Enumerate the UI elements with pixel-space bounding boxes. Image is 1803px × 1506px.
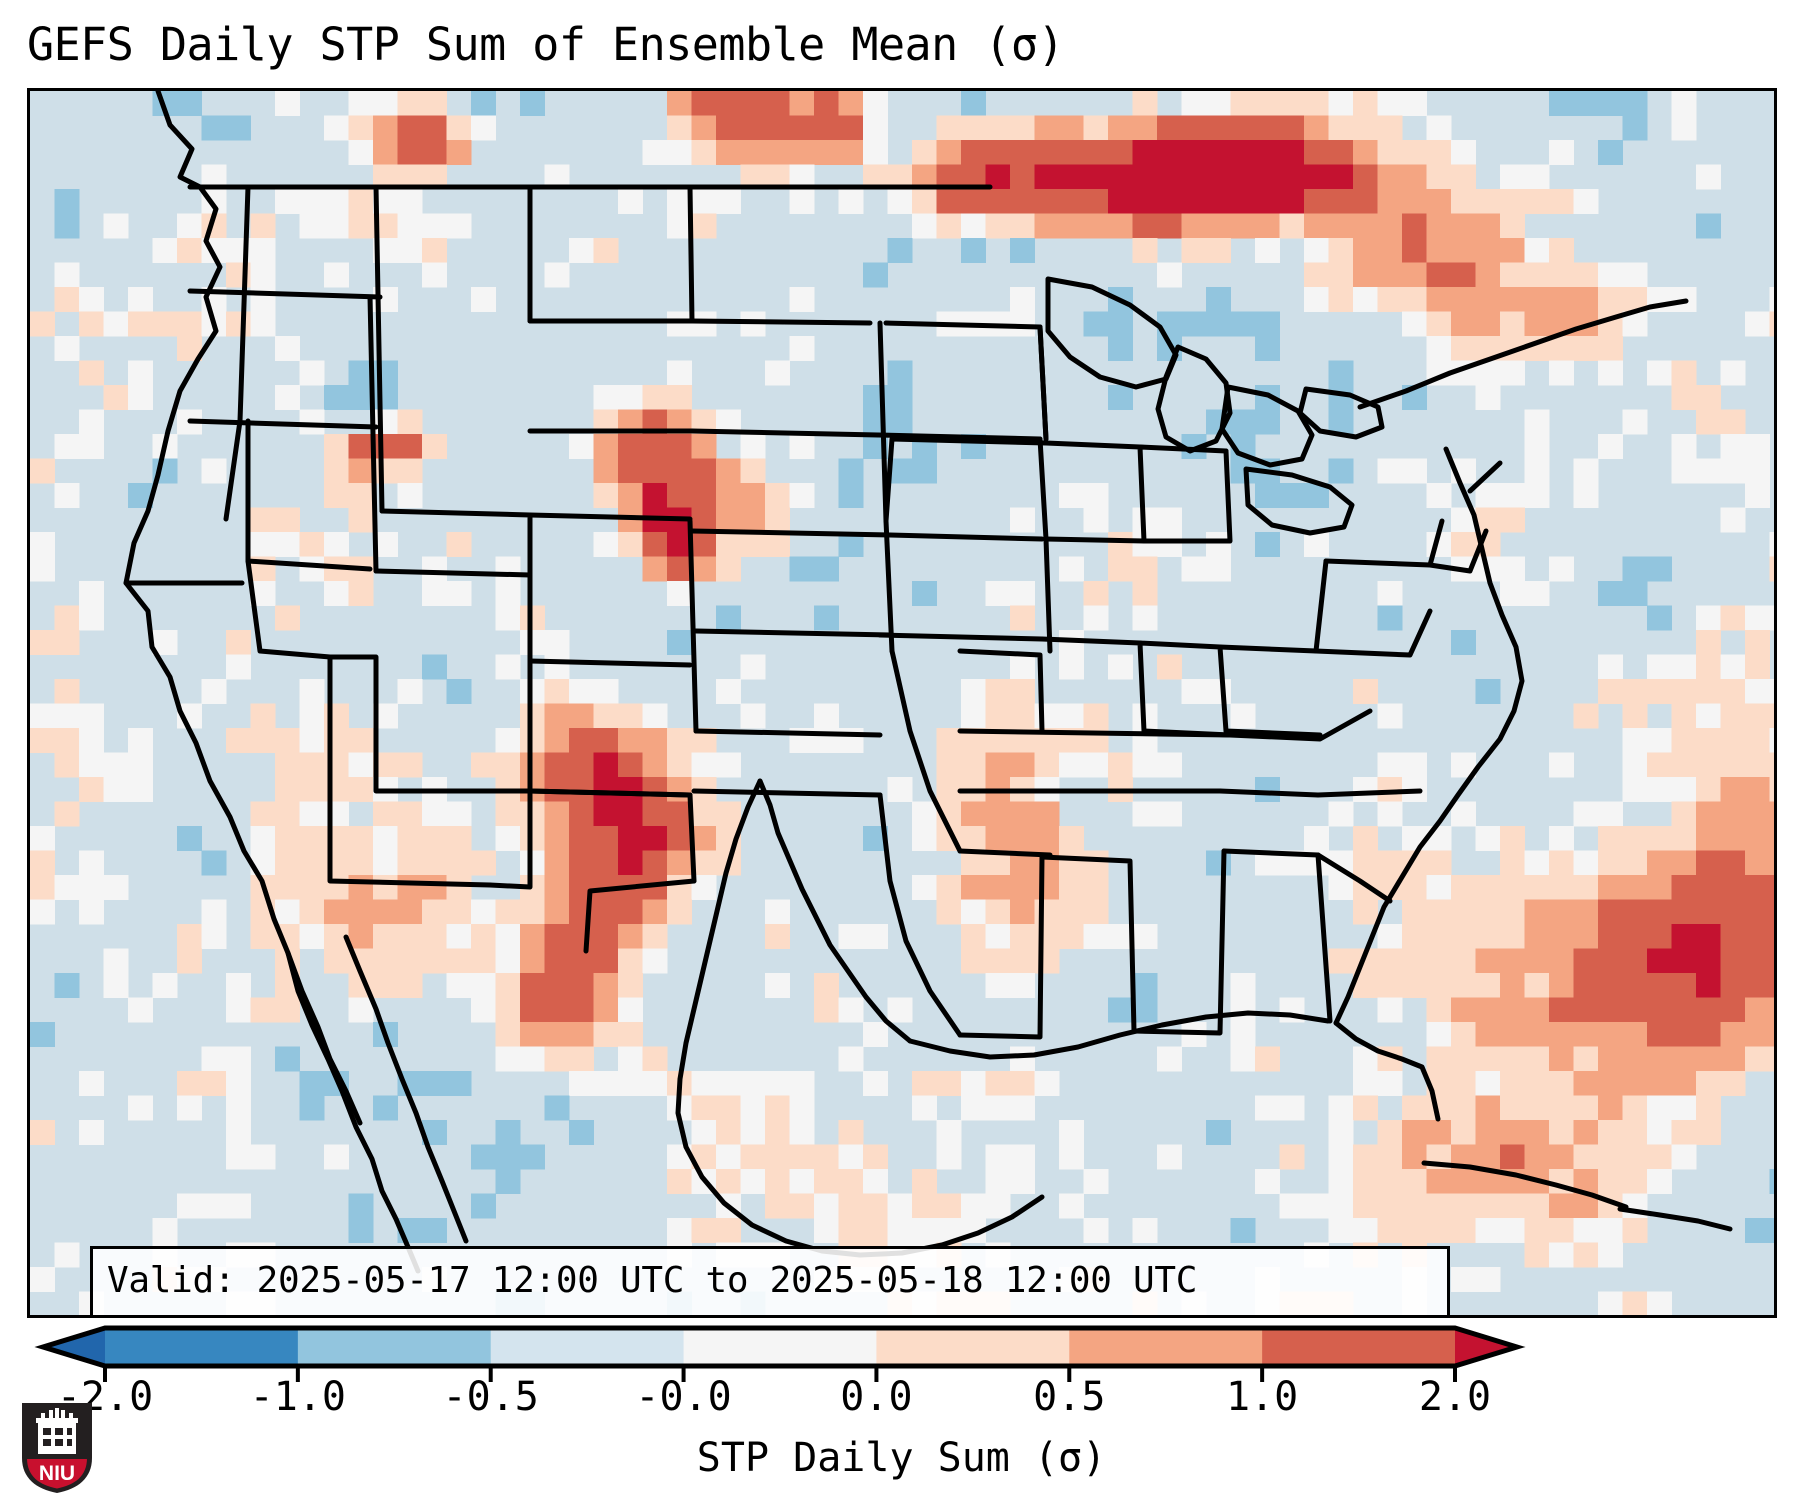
heatmap-cell bbox=[1353, 263, 1378, 288]
heatmap-cell bbox=[1598, 998, 1623, 1023]
heatmap-cell bbox=[1476, 1096, 1501, 1121]
heatmap-cell bbox=[594, 973, 619, 998]
heatmap-cell bbox=[1500, 851, 1525, 876]
heatmap-cell bbox=[1133, 140, 1158, 165]
heatmap-cell bbox=[300, 532, 325, 557]
heatmap-cell bbox=[398, 949, 423, 974]
heatmap-cell bbox=[471, 287, 496, 312]
heatmap-cell bbox=[1500, 1047, 1525, 1072]
heatmap-cell bbox=[1598, 336, 1623, 361]
heatmap-cell bbox=[373, 900, 398, 925]
heatmap-cell bbox=[765, 1145, 790, 1170]
heatmap-cell bbox=[1525, 434, 1550, 459]
heatmap-cell bbox=[1549, 851, 1574, 876]
heatmap-cell bbox=[1598, 1120, 1623, 1145]
heatmap-cell bbox=[1500, 557, 1525, 582]
heatmap-cell bbox=[1059, 483, 1084, 508]
heatmap-cell bbox=[1451, 165, 1476, 190]
heatmap-cell bbox=[1378, 140, 1403, 165]
info-valid-line: Valid: 2025-05-17 12:00 UTC to 2025-05-1… bbox=[107, 1255, 1435, 1307]
heatmap-cell bbox=[1696, 753, 1721, 778]
heatmap-cell bbox=[1770, 924, 1775, 949]
heatmap-cell bbox=[226, 1096, 251, 1121]
heatmap-cell bbox=[716, 802, 741, 827]
heatmap-cell bbox=[30, 532, 55, 557]
heatmap-cell bbox=[1623, 875, 1648, 900]
heatmap-cell bbox=[1427, 483, 1452, 508]
heatmap-cell bbox=[1329, 91, 1354, 116]
heatmap-cell bbox=[814, 606, 839, 631]
heatmap-cell bbox=[1696, 1022, 1721, 1047]
heatmap-cell bbox=[618, 385, 643, 410]
heatmap-cell bbox=[643, 851, 668, 876]
heatmap-cell bbox=[765, 1071, 790, 1096]
heatmap-cell bbox=[1353, 826, 1378, 851]
heatmap-cell bbox=[1353, 1169, 1378, 1194]
heatmap-cell bbox=[1500, 165, 1525, 190]
heatmap-cell bbox=[1696, 728, 1721, 753]
heatmap-cell bbox=[1427, 116, 1452, 141]
heatmap-cell bbox=[251, 312, 276, 337]
heatmap-cell bbox=[1574, 998, 1599, 1023]
heatmap-cell bbox=[1574, 1145, 1599, 1170]
heatmap-cell bbox=[79, 361, 104, 386]
heatmap-cell bbox=[1059, 1145, 1084, 1170]
heatmap-cell bbox=[937, 189, 962, 214]
heatmap-cell bbox=[1672, 802, 1697, 827]
heatmap-cell bbox=[128, 312, 153, 337]
heatmap-cell bbox=[373, 973, 398, 998]
heatmap-cell bbox=[961, 1071, 986, 1096]
heatmap-cell bbox=[667, 361, 692, 386]
heatmap-cell bbox=[324, 483, 349, 508]
heatmap-cell bbox=[1525, 1096, 1550, 1121]
colorbar-band-5 bbox=[1069, 1328, 1262, 1366]
heatmap-cell bbox=[496, 900, 521, 925]
heatmap-cell bbox=[1133, 165, 1158, 190]
heatmap-cell bbox=[373, 459, 398, 484]
heatmap-cell bbox=[1598, 1218, 1623, 1243]
heatmap-cell bbox=[1525, 1120, 1550, 1145]
heatmap-cell bbox=[1696, 777, 1721, 802]
heatmap-cell bbox=[1721, 924, 1746, 949]
heatmap-cell bbox=[1672, 679, 1697, 704]
heatmap-cell bbox=[1598, 434, 1623, 459]
heatmap-cell bbox=[839, 1120, 864, 1145]
colorbar-band-4 bbox=[876, 1328, 1069, 1366]
heatmap-cell bbox=[692, 214, 717, 239]
heatmap-cell bbox=[937, 1194, 962, 1219]
heatmap-cell bbox=[300, 1071, 325, 1096]
heatmap-cell bbox=[1378, 238, 1403, 263]
heatmap-cell bbox=[1770, 557, 1775, 582]
heatmap-cell bbox=[1745, 900, 1770, 925]
heatmap-cell bbox=[765, 483, 790, 508]
heatmap-cell bbox=[1598, 91, 1623, 116]
heatmap-cell bbox=[1525, 973, 1550, 998]
heatmap-cell bbox=[594, 1071, 619, 1096]
heatmap-cell bbox=[986, 1096, 1011, 1121]
heatmap-cell bbox=[1623, 1120, 1648, 1145]
heatmap-cell bbox=[643, 1047, 668, 1072]
heatmap-cell bbox=[1696, 998, 1721, 1023]
heatmap-cell bbox=[1035, 1071, 1060, 1096]
heatmap-cell bbox=[1549, 949, 1574, 974]
heatmap-cell bbox=[594, 753, 619, 778]
heatmap-cell bbox=[1525, 875, 1550, 900]
heatmap-cell bbox=[1672, 459, 1697, 484]
heatmap-cell bbox=[667, 483, 692, 508]
colorbar-tick-label-2: -0.5 bbox=[443, 1372, 539, 1422]
heatmap-cell bbox=[1672, 1022, 1697, 1047]
heatmap-cell bbox=[1084, 1169, 1109, 1194]
heatmap-cell bbox=[1623, 777, 1648, 802]
heatmap-cell bbox=[1721, 875, 1746, 900]
heatmap-cell bbox=[422, 91, 447, 116]
heatmap-cell bbox=[1329, 875, 1354, 900]
heatmap-cell bbox=[1280, 165, 1305, 190]
heatmap-cell bbox=[128, 361, 153, 386]
heatmap-cell bbox=[1770, 1218, 1775, 1243]
heatmap-cell bbox=[1035, 116, 1060, 141]
heatmap-cell bbox=[202, 900, 227, 925]
heatmap-cell bbox=[790, 1145, 815, 1170]
heatmap-cell bbox=[300, 679, 325, 704]
colorbar-tick-label-4: 0.0 bbox=[840, 1372, 912, 1422]
heatmap-cell bbox=[1598, 1096, 1623, 1121]
heatmap-cell bbox=[275, 532, 300, 557]
heatmap-cell bbox=[594, 459, 619, 484]
heatmap-cell bbox=[741, 116, 766, 141]
heatmap-cell bbox=[569, 973, 594, 998]
heatmap-cell bbox=[226, 1047, 251, 1072]
heatmap-cell bbox=[1745, 924, 1770, 949]
heatmap-cell bbox=[1280, 1194, 1305, 1219]
heatmap-cell bbox=[1157, 1145, 1182, 1170]
heatmap-cell bbox=[1745, 728, 1770, 753]
heatmap-cell bbox=[1378, 753, 1403, 778]
heatmap-cell bbox=[1304, 116, 1329, 141]
heatmap-cell bbox=[496, 1120, 521, 1145]
heatmap-cell bbox=[349, 900, 374, 925]
heatmap-cell bbox=[1402, 459, 1427, 484]
colorbar-tick-label-7: 2.0 bbox=[1419, 1372, 1491, 1422]
heatmap-cell bbox=[55, 214, 80, 239]
heatmap-cell bbox=[618, 1071, 643, 1096]
heatmap-cell bbox=[1206, 532, 1231, 557]
heatmap-cell bbox=[1623, 581, 1648, 606]
heatmap-cell bbox=[1623, 728, 1648, 753]
heatmap-cell bbox=[373, 116, 398, 141]
heatmap-cell bbox=[1770, 1047, 1775, 1072]
heatmap-cell bbox=[839, 483, 864, 508]
heatmap-cell bbox=[569, 1120, 594, 1145]
heatmap-cell bbox=[692, 189, 717, 214]
heatmap-cell bbox=[1280, 483, 1305, 508]
heatmap-cell bbox=[1059, 875, 1084, 900]
heatmap-cell bbox=[1157, 116, 1182, 141]
heatmap-cell bbox=[349, 851, 374, 876]
heatmap-cell bbox=[471, 924, 496, 949]
heatmap-cell bbox=[716, 557, 741, 582]
heatmap-cell bbox=[1500, 924, 1525, 949]
heatmap-cell bbox=[1231, 410, 1256, 435]
heatmap-cell bbox=[30, 1267, 55, 1292]
heatmap-cell bbox=[55, 606, 80, 631]
heatmap-cell bbox=[496, 606, 521, 631]
heatmap-cell bbox=[986, 116, 1011, 141]
heatmap-cell bbox=[177, 214, 202, 239]
heatmap-cell bbox=[251, 802, 276, 827]
heatmap-cell bbox=[1378, 704, 1403, 729]
heatmap-cell bbox=[667, 434, 692, 459]
heatmap-cell bbox=[569, 826, 594, 851]
heatmap-cell bbox=[692, 1120, 717, 1145]
heatmap-cell bbox=[422, 140, 447, 165]
heatmap-cell bbox=[716, 679, 741, 704]
heatmap-cell bbox=[839, 1169, 864, 1194]
heatmap-cell bbox=[1696, 704, 1721, 729]
heatmap-cell bbox=[839, 998, 864, 1023]
heatmap-cell bbox=[398, 679, 423, 704]
heatmap-cell bbox=[1623, 998, 1648, 1023]
heatmap-cell bbox=[1598, 655, 1623, 680]
heatmap-cell bbox=[863, 1194, 888, 1219]
heatmap-cell bbox=[349, 998, 374, 1023]
heatmap-cell bbox=[1647, 1096, 1672, 1121]
heatmap-cell bbox=[79, 900, 104, 925]
heatmap-cell bbox=[1672, 1047, 1697, 1072]
info-run-line: Run: 2025-04-24 00:00 UTC bbox=[107, 1307, 1435, 1318]
heatmap-cell bbox=[1745, 434, 1770, 459]
heatmap-cell bbox=[496, 998, 521, 1023]
heatmap-cell bbox=[324, 459, 349, 484]
heatmap-cell bbox=[1329, 802, 1354, 827]
heatmap-cell bbox=[765, 140, 790, 165]
heatmap-cell bbox=[324, 214, 349, 239]
heatmap-cell bbox=[1598, 1243, 1623, 1268]
heatmap-cell bbox=[1182, 165, 1207, 190]
heatmap-cell bbox=[1035, 900, 1060, 925]
heatmap-cell bbox=[1206, 238, 1231, 263]
heatmap-cell bbox=[471, 851, 496, 876]
heatmap-cell bbox=[1427, 1120, 1452, 1145]
heatmap-cell bbox=[937, 1071, 962, 1096]
heatmap-cell bbox=[986, 1071, 1011, 1096]
heatmap-cell bbox=[1280, 1145, 1305, 1170]
heatmap-cell bbox=[1329, 1169, 1354, 1194]
heatmap-cell bbox=[1500, 508, 1525, 533]
heatmap-cell bbox=[545, 851, 570, 876]
heatmap-cell bbox=[1476, 900, 1501, 925]
heatmap-cell bbox=[398, 802, 423, 827]
heatmap-cell bbox=[1182, 312, 1207, 337]
heatmap-cell bbox=[741, 434, 766, 459]
heatmap-cell bbox=[1623, 1218, 1648, 1243]
heatmap-cell bbox=[1672, 361, 1697, 386]
heatmap-cell bbox=[1574, 704, 1599, 729]
heatmap-cell bbox=[1010, 900, 1035, 925]
heatmap-cell bbox=[1672, 973, 1697, 998]
heatmap-cell bbox=[1623, 1169, 1648, 1194]
heatmap-cell bbox=[520, 91, 545, 116]
heatmap-cell bbox=[545, 263, 570, 288]
heatmap-cell bbox=[1598, 1169, 1623, 1194]
heatmap-cell bbox=[839, 1047, 864, 1072]
heatmap-cell bbox=[1525, 924, 1550, 949]
heatmap-cell bbox=[79, 410, 104, 435]
heatmap-cell bbox=[1476, 1145, 1501, 1170]
heatmap-cell bbox=[1672, 998, 1697, 1023]
heatmap-cell bbox=[1623, 949, 1648, 974]
heatmap-cell bbox=[1574, 1071, 1599, 1096]
heatmap-cell bbox=[30, 1120, 55, 1145]
heatmap-cell bbox=[594, 802, 619, 827]
heatmap-cell bbox=[888, 777, 913, 802]
heatmap-cell bbox=[1574, 1243, 1599, 1268]
heatmap-cell bbox=[1010, 679, 1035, 704]
heatmap-cell bbox=[79, 875, 104, 900]
heatmap-cell bbox=[1329, 116, 1354, 141]
heatmap-cell bbox=[349, 483, 374, 508]
heatmap-cell bbox=[1427, 1218, 1452, 1243]
heatmap-cell bbox=[912, 875, 937, 900]
heatmap-cell bbox=[1647, 606, 1672, 631]
heatmap-cell bbox=[1010, 1169, 1035, 1194]
heatmap-cell bbox=[1133, 557, 1158, 582]
heatmap-cell bbox=[1402, 238, 1427, 263]
heatmap-cell bbox=[1084, 189, 1109, 214]
heatmap-cell bbox=[1255, 165, 1280, 190]
heatmap-cell bbox=[30, 630, 55, 655]
heatmap-cell bbox=[55, 483, 80, 508]
heatmap-cell bbox=[1721, 606, 1746, 631]
heatmap-cell bbox=[1255, 1169, 1280, 1194]
heatmap-cell bbox=[251, 924, 276, 949]
heatmap-cell bbox=[692, 116, 717, 141]
heatmap-cell bbox=[741, 140, 766, 165]
colorbar-tick-label-1: -1.0 bbox=[250, 1372, 346, 1422]
heatmap-cell bbox=[275, 189, 300, 214]
heatmap-cell bbox=[1598, 287, 1623, 312]
heatmap-cell bbox=[1525, 189, 1550, 214]
heatmap-cell bbox=[716, 1218, 741, 1243]
heatmap-cell bbox=[716, 1145, 741, 1170]
map-axes[interactable]: Valid: 2025-05-17 12:00 UTC to 2025-05-1… bbox=[27, 88, 1777, 1318]
heatmap-cell bbox=[422, 826, 447, 851]
heatmap-cell bbox=[1451, 140, 1476, 165]
heatmap-cell bbox=[398, 753, 423, 778]
heatmap-cell bbox=[1329, 238, 1354, 263]
heatmap-cell bbox=[1598, 1047, 1623, 1072]
heatmap-cell bbox=[716, 606, 741, 631]
heatmap-cell bbox=[226, 116, 251, 141]
heatmap-cell bbox=[300, 753, 325, 778]
heatmap-cell bbox=[1549, 1022, 1574, 1047]
heatmap-cell bbox=[1353, 1071, 1378, 1096]
heatmap-cell bbox=[1525, 1194, 1550, 1219]
heatmap-cell bbox=[961, 949, 986, 974]
heatmap-cell bbox=[961, 140, 986, 165]
heatmap-cell bbox=[520, 1022, 545, 1047]
heatmap-cell bbox=[716, 116, 741, 141]
heatmap-cell bbox=[1696, 459, 1721, 484]
heatmap-cell bbox=[349, 1194, 374, 1219]
heatmap-cell bbox=[1549, 1120, 1574, 1145]
heatmap-cell bbox=[1672, 1096, 1697, 1121]
heatmap-cell bbox=[79, 581, 104, 606]
heatmap-cell bbox=[545, 900, 570, 925]
heatmap-cell bbox=[1647, 900, 1672, 925]
heatmap-cell bbox=[1427, 287, 1452, 312]
heatmap-cell bbox=[1525, 238, 1550, 263]
figure-canvas: GEFS Daily STP Sum of Ensemble Mean (σ) … bbox=[0, 0, 1803, 1506]
heatmap-cell bbox=[324, 1145, 349, 1170]
heatmap-cell bbox=[888, 1218, 913, 1243]
heatmap-cell bbox=[545, 924, 570, 949]
heatmap-cell bbox=[1696, 826, 1721, 851]
heatmap-cell bbox=[398, 140, 423, 165]
heatmap-cell bbox=[1745, 1022, 1770, 1047]
heatmap-cell bbox=[1329, 263, 1354, 288]
heatmap-cell bbox=[128, 753, 153, 778]
heatmap-cell bbox=[1304, 165, 1329, 190]
heatmap-cell bbox=[1427, 851, 1452, 876]
heatmap-cell bbox=[1525, 998, 1550, 1023]
heatmap-cell bbox=[1353, 900, 1378, 925]
heatmap-cell bbox=[594, 949, 619, 974]
heatmap-cell bbox=[1745, 973, 1770, 998]
heatmap-cell bbox=[1721, 1047, 1746, 1072]
heatmap-cell bbox=[1623, 263, 1648, 288]
heatmap-cell bbox=[961, 924, 986, 949]
heatmap-cell bbox=[373, 434, 398, 459]
heatmap-cell bbox=[716, 532, 741, 557]
heatmap-cell bbox=[741, 91, 766, 116]
heatmap-cell bbox=[1402, 263, 1427, 288]
heatmap-cell bbox=[1157, 214, 1182, 239]
heatmap-cell bbox=[765, 116, 790, 141]
heatmap-cell bbox=[398, 91, 423, 116]
heatmap-cell bbox=[1770, 802, 1775, 827]
heatmap-cell bbox=[618, 802, 643, 827]
heatmap-cell bbox=[1108, 557, 1133, 582]
heatmap-cell bbox=[1476, 287, 1501, 312]
heatmap-cell bbox=[863, 1145, 888, 1170]
heatmap-cell bbox=[986, 973, 1011, 998]
heatmap-cell bbox=[1574, 900, 1599, 925]
heatmap-cell bbox=[30, 900, 55, 925]
heatmap-cell bbox=[1549, 826, 1574, 851]
heatmap-cell bbox=[1402, 875, 1427, 900]
heatmap-cell bbox=[1574, 1218, 1599, 1243]
heatmap-cell bbox=[1476, 214, 1501, 239]
heatmap-cell bbox=[692, 1071, 717, 1096]
heatmap-cell bbox=[202, 924, 227, 949]
heatmap-cell bbox=[398, 483, 423, 508]
heatmap-cell bbox=[1549, 900, 1574, 925]
heatmap-cell bbox=[1451, 336, 1476, 361]
heatmap-cell bbox=[1010, 1071, 1035, 1096]
heatmap-cell bbox=[226, 1071, 251, 1096]
heatmap-cell bbox=[1182, 557, 1207, 582]
heatmap-cell bbox=[1451, 949, 1476, 974]
heatmap-cell bbox=[618, 459, 643, 484]
heatmap-cell bbox=[398, 459, 423, 484]
heatmap-cell bbox=[1280, 116, 1305, 141]
heatmap-cell bbox=[1672, 753, 1697, 778]
heatmap-cell bbox=[1721, 998, 1746, 1023]
